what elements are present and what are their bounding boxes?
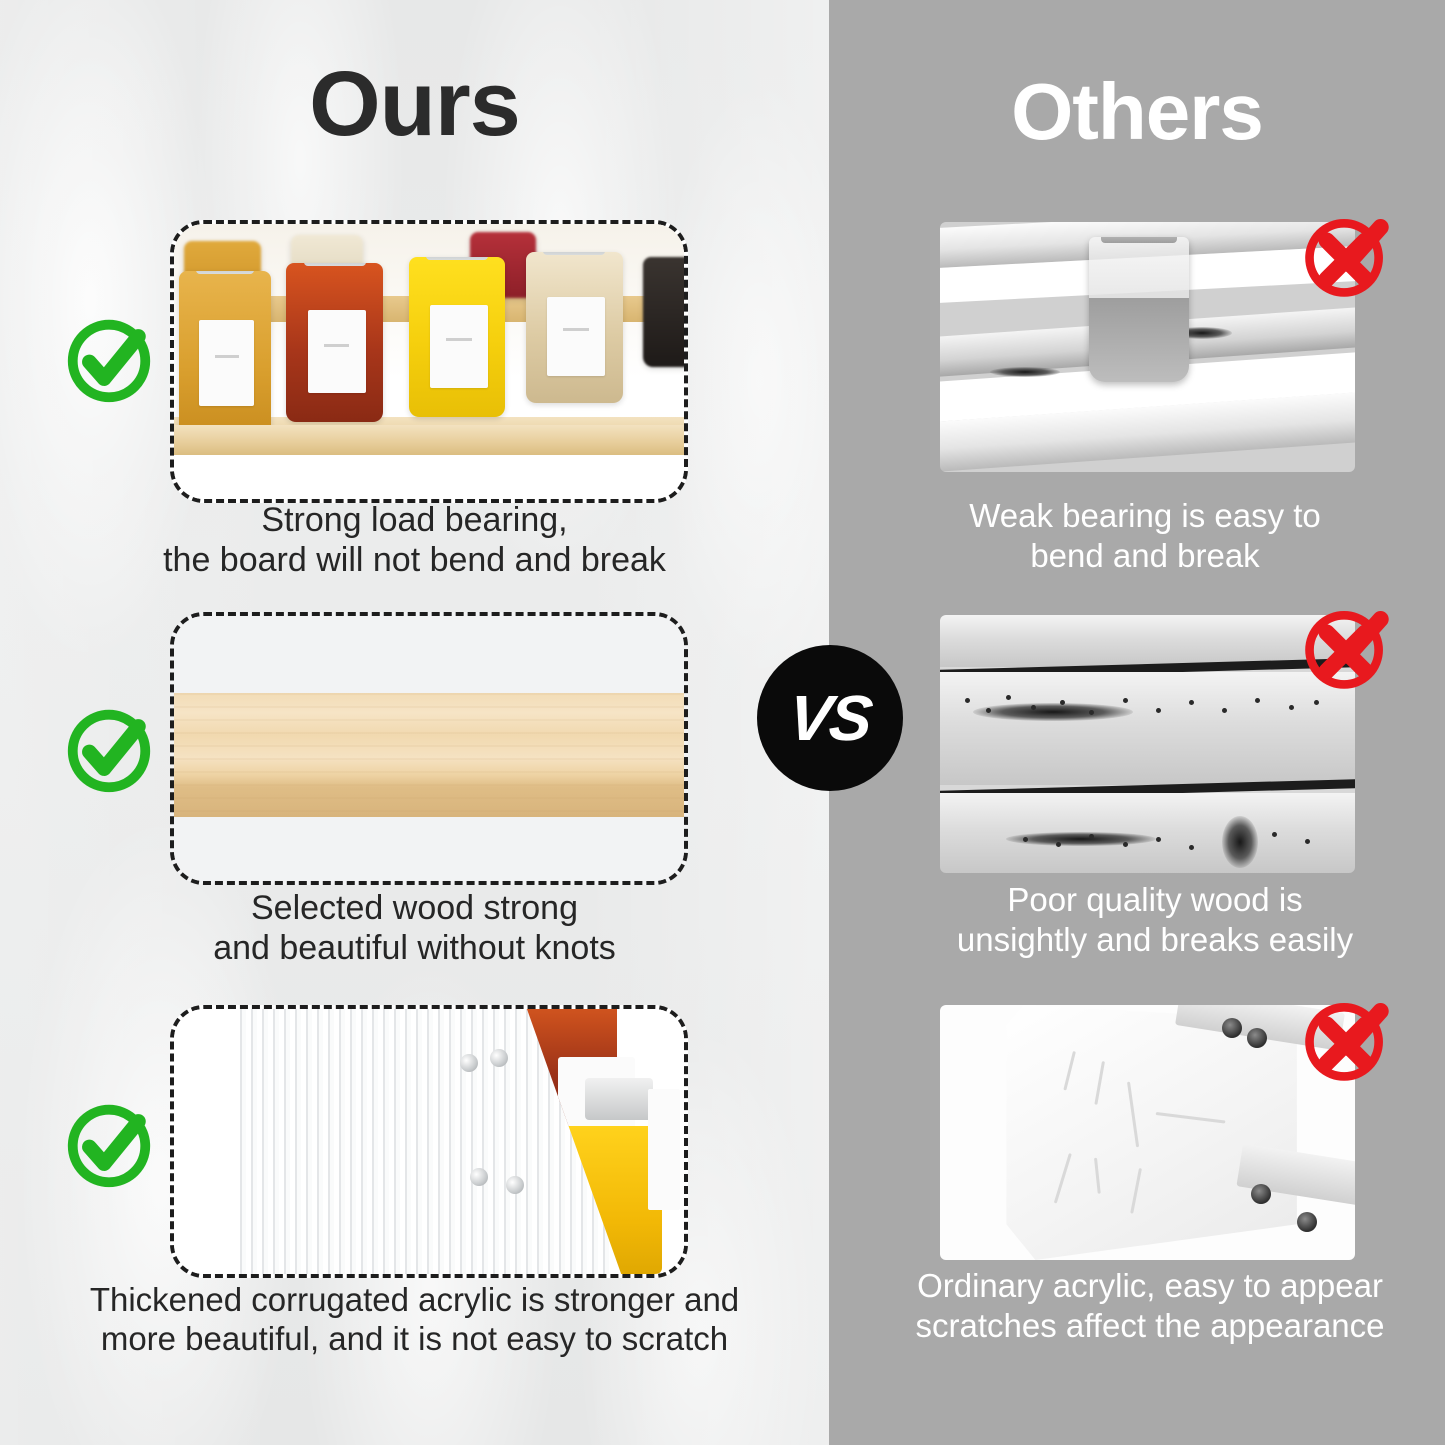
cross-circle-icon bbox=[1298, 208, 1394, 304]
ours-caption-2-line1: Selected wood strong bbox=[0, 888, 829, 928]
others-image-1 bbox=[940, 222, 1355, 472]
check-circle-icon bbox=[60, 700, 158, 798]
others-caption-2-line2: unsightly and breaks easily bbox=[900, 920, 1410, 960]
ours-image-1 bbox=[170, 220, 688, 503]
ours-image-2 bbox=[170, 612, 688, 885]
others-caption-3: Ordinary acrylic, easy to appear scratch… bbox=[880, 1266, 1420, 1346]
check-circle-icon bbox=[60, 1095, 158, 1193]
comparison-infographic: Ours Others bbox=[0, 0, 1445, 1445]
ours-caption-3-line2: more beautiful, and it is not easy to sc… bbox=[0, 1319, 829, 1358]
others-caption-1: Weak bearing is easy to bend and break bbox=[900, 496, 1390, 576]
others-caption-1-line1: Weak bearing is easy to bbox=[900, 496, 1390, 536]
others-caption-3-line1: Ordinary acrylic, easy to appear bbox=[880, 1266, 1420, 1306]
ours-caption-2: Selected wood strong and beautiful witho… bbox=[0, 888, 829, 968]
ours-image-3 bbox=[170, 1005, 688, 1278]
cross-circle-icon bbox=[1298, 992, 1394, 1088]
ours-caption-1-line2: the board will not bend and break bbox=[0, 540, 829, 580]
others-caption-2: Poor quality wood is unsightly and break… bbox=[900, 880, 1410, 960]
ours-caption-1: Strong load bearing, the board will not … bbox=[0, 500, 829, 580]
others-caption-2-line1: Poor quality wood is bbox=[900, 880, 1410, 920]
ours-caption-2-line2: and beautiful without knots bbox=[0, 928, 829, 968]
others-image-3 bbox=[940, 1005, 1355, 1260]
others-caption-3-line2: scratches affect the appearance bbox=[880, 1306, 1420, 1346]
others-title: Others bbox=[829, 66, 1445, 158]
cross-circle-icon bbox=[1298, 600, 1394, 696]
others-caption-1-line2: bend and break bbox=[900, 536, 1390, 576]
ours-caption-1-line1: Strong load bearing, bbox=[0, 500, 829, 540]
check-circle-icon bbox=[60, 310, 158, 408]
ours-caption-3: Thickened corrugated acrylic is stronger… bbox=[0, 1280, 829, 1358]
ours-title: Ours bbox=[0, 52, 829, 157]
ours-caption-3-line1: Thickened corrugated acrylic is stronger… bbox=[0, 1280, 829, 1319]
others-image-2 bbox=[940, 615, 1355, 873]
vs-label: VS bbox=[785, 681, 874, 755]
vs-badge: VS bbox=[757, 645, 903, 791]
